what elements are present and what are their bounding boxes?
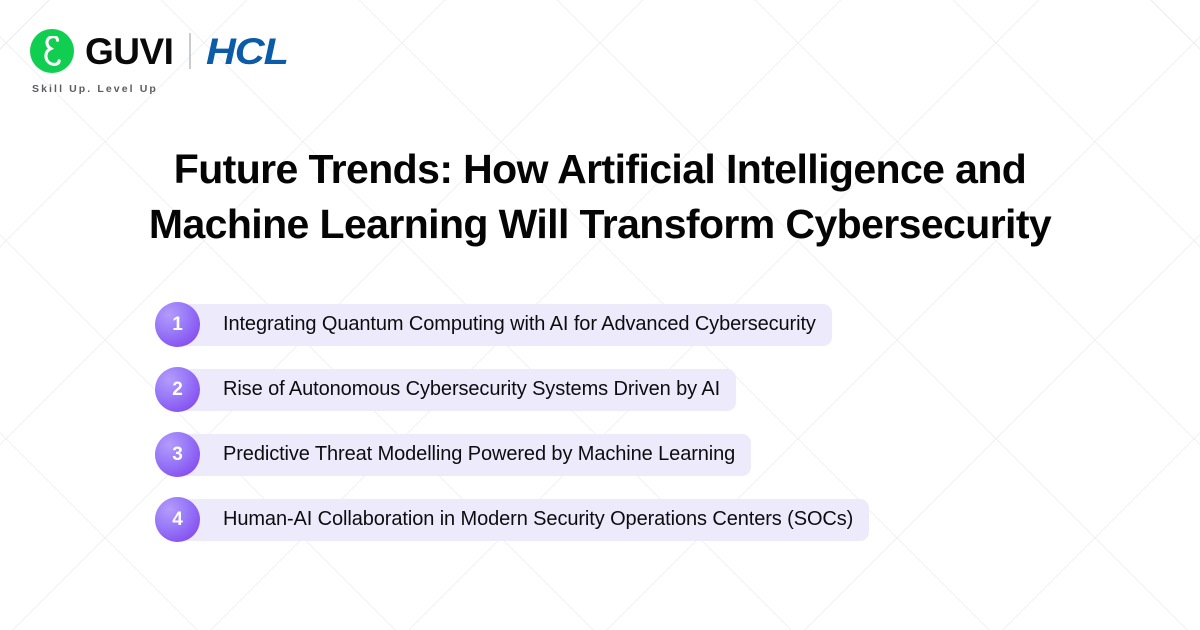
brand-logo-row: GUVI HCL (30, 28, 280, 74)
brand-divider (189, 33, 191, 69)
list-item-number-badge: 4 (155, 497, 200, 542)
list-item-label: Integrating Quantum Computing with AI fo… (223, 313, 816, 336)
page-title-line-1: Future Trends: How Artificial Intelligen… (90, 142, 1110, 197)
list-item-pill[interactable]: Rise of Autonomous Cybersecurity Systems… (178, 369, 736, 411)
trend-list: 1 Integrating Quantum Computing with AI … (155, 302, 869, 542)
hcl-wordmark: HCL (206, 33, 288, 70)
list-item-number-badge: 3 (155, 432, 200, 477)
list-item-pill[interactable]: Predictive Threat Modelling Powered by M… (178, 434, 751, 476)
page-title: Future Trends: How Artificial Intelligen… (0, 142, 1200, 252)
list-item-number-badge: 2 (155, 367, 200, 412)
brand-tagline: Skill Up. Level Up (32, 83, 280, 95)
guvi-wordmark: GUVI (85, 33, 173, 70)
brand-bar: GUVI HCL Skill Up. Level Up (30, 28, 280, 95)
list-item-pill[interactable]: Integrating Quantum Computing with AI fo… (178, 304, 832, 346)
list-item[interactable]: 2 Rise of Autonomous Cybersecurity Syste… (155, 367, 869, 412)
list-item-pill[interactable]: Human-AI Collaboration in Modern Securit… (178, 499, 869, 541)
list-item[interactable]: 3 Predictive Threat Modelling Powered by… (155, 432, 869, 477)
list-item-number-badge: 1 (155, 302, 200, 347)
guvi-g-circle-icon (30, 29, 74, 73)
list-item-label: Rise of Autonomous Cybersecurity Systems… (223, 378, 720, 401)
page-title-line-2: Machine Learning Will Transform Cybersec… (90, 197, 1110, 252)
slide-canvas: GUVI HCL Skill Up. Level Up Future Trend… (0, 0, 1200, 630)
list-item[interactable]: 4 Human-AI Collaboration in Modern Secur… (155, 497, 869, 542)
list-item-label: Human-AI Collaboration in Modern Securit… (223, 508, 853, 531)
list-item[interactable]: 1 Integrating Quantum Computing with AI … (155, 302, 869, 347)
list-item-label: Predictive Threat Modelling Powered by M… (223, 443, 735, 466)
